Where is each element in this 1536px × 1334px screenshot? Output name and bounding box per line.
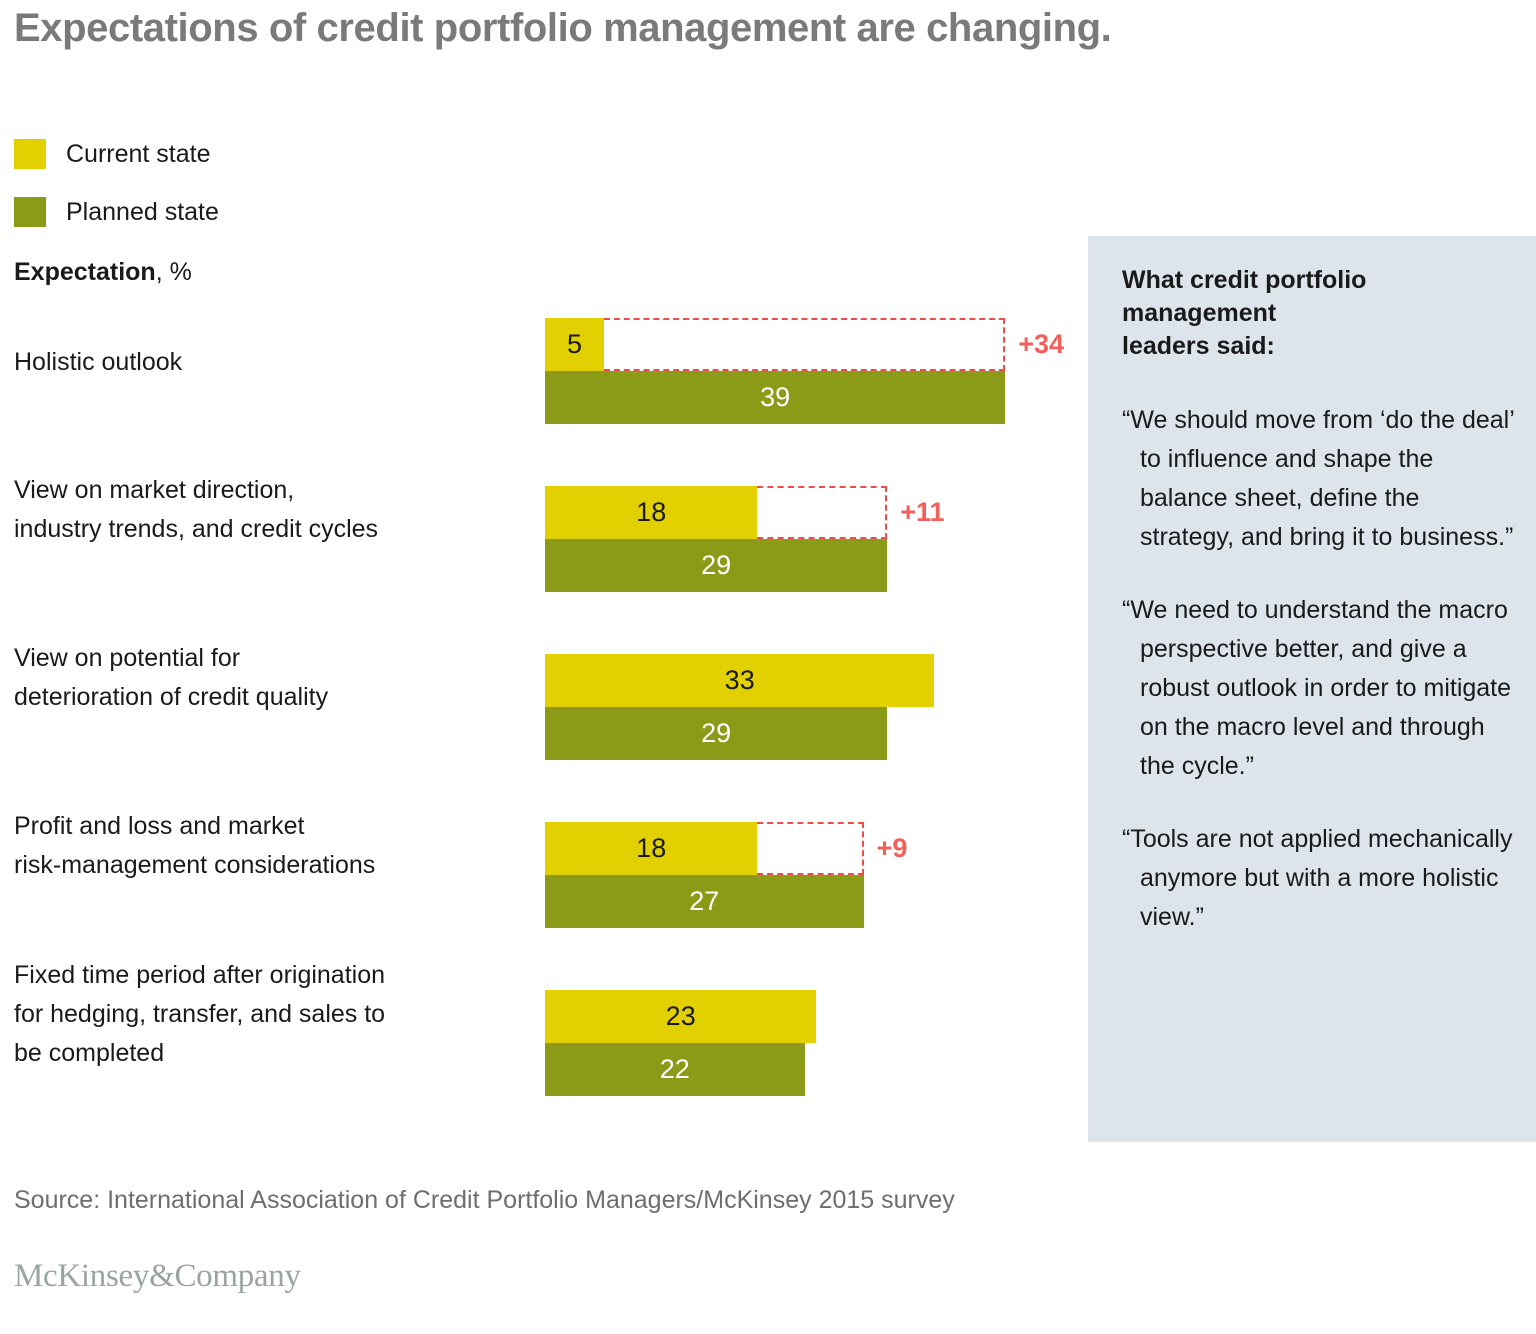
- source-note: Source: International Association of Cre…: [14, 1186, 955, 1215]
- quote-1: “We should move from ‘do the deal’ to in…: [1122, 401, 1514, 557]
- category-label: Holistic outlook: [14, 343, 524, 382]
- bar-chart-plot-area: Holistic outlook539+34View on market dir…: [0, 0, 1080, 1160]
- bar-value-planned-state: 29: [545, 707, 887, 760]
- category-label-line: be completed: [14, 1034, 524, 1073]
- quote-2: “We need to understand the macro perspec…: [1122, 591, 1514, 786]
- bar-value-current-state: 18: [545, 486, 757, 539]
- quotes-panel: What credit portfolio management leaders…: [1088, 236, 1536, 1142]
- category-label-line: industry trends, and credit cycles: [14, 510, 524, 549]
- bar-value-planned-state: 39: [545, 371, 1005, 424]
- bar-planned-state[interactable]: 27: [545, 875, 864, 928]
- bar-value-current-state: 23: [545, 990, 816, 1043]
- category-label-line: Profit and loss and market: [14, 807, 524, 846]
- bar-pair: 1829+11: [545, 486, 887, 592]
- mckinsey-company-logo: McKinsey&Company: [14, 1258, 301, 1295]
- category-label-line: risk-management considerations: [14, 846, 524, 885]
- delta-dashed-box: [757, 486, 887, 539]
- bar-planned-state[interactable]: 29: [545, 539, 887, 592]
- bar-pair: 2322: [545, 990, 816, 1096]
- delta-label: +9: [877, 822, 908, 875]
- bar-current-state[interactable]: 5: [545, 318, 604, 371]
- bar-pair: 3329: [545, 654, 934, 760]
- delta-label: +34: [1018, 318, 1064, 371]
- quotes-panel-heading: What credit portfolio management leaders…: [1122, 264, 1514, 363]
- bar-current-state[interactable]: 18: [545, 486, 757, 539]
- category-label-line: for hedging, transfer, and sales to: [14, 995, 524, 1034]
- category-label-line: View on market direction,: [14, 471, 524, 510]
- bar-value-planned-state: 29: [545, 539, 887, 592]
- category-label-line: deterioration of credit quality: [14, 678, 524, 717]
- category-label: View on potential fordeterioration of cr…: [14, 639, 524, 717]
- bar-value-current-state: 18: [545, 822, 757, 875]
- bar-planned-state[interactable]: 39: [545, 371, 1005, 424]
- bar-current-state[interactable]: 18: [545, 822, 757, 875]
- category-label-line: View on potential for: [14, 639, 524, 678]
- category-label: Profit and loss and marketrisk-managemen…: [14, 807, 524, 885]
- category-label: Fixed time period after originationfor h…: [14, 956, 524, 1073]
- bar-value-current-state: 5: [545, 318, 604, 371]
- bar-current-state[interactable]: 33: [545, 654, 934, 707]
- delta-label: +11: [900, 486, 944, 539]
- bar-value-current-state: 33: [545, 654, 934, 707]
- bar-pair: 539+34: [545, 318, 1005, 424]
- bar-current-state[interactable]: 23: [545, 990, 816, 1043]
- bar-pair: 1827+9: [545, 822, 864, 928]
- bar-planned-state[interactable]: 29: [545, 707, 887, 760]
- bar-value-planned-state: 27: [545, 875, 864, 928]
- delta-dashed-box: [604, 318, 1005, 371]
- category-label-line: Holistic outlook: [14, 343, 524, 382]
- delta-dashed-box: [757, 822, 863, 875]
- category-label: View on market direction,industry trends…: [14, 471, 524, 549]
- quote-3: “Tools are not applied mechanically anym…: [1122, 820, 1514, 937]
- bar-planned-state[interactable]: 22: [545, 1043, 805, 1096]
- bar-value-planned-state: 22: [545, 1043, 805, 1096]
- category-label-line: Fixed time period after origination: [14, 956, 524, 995]
